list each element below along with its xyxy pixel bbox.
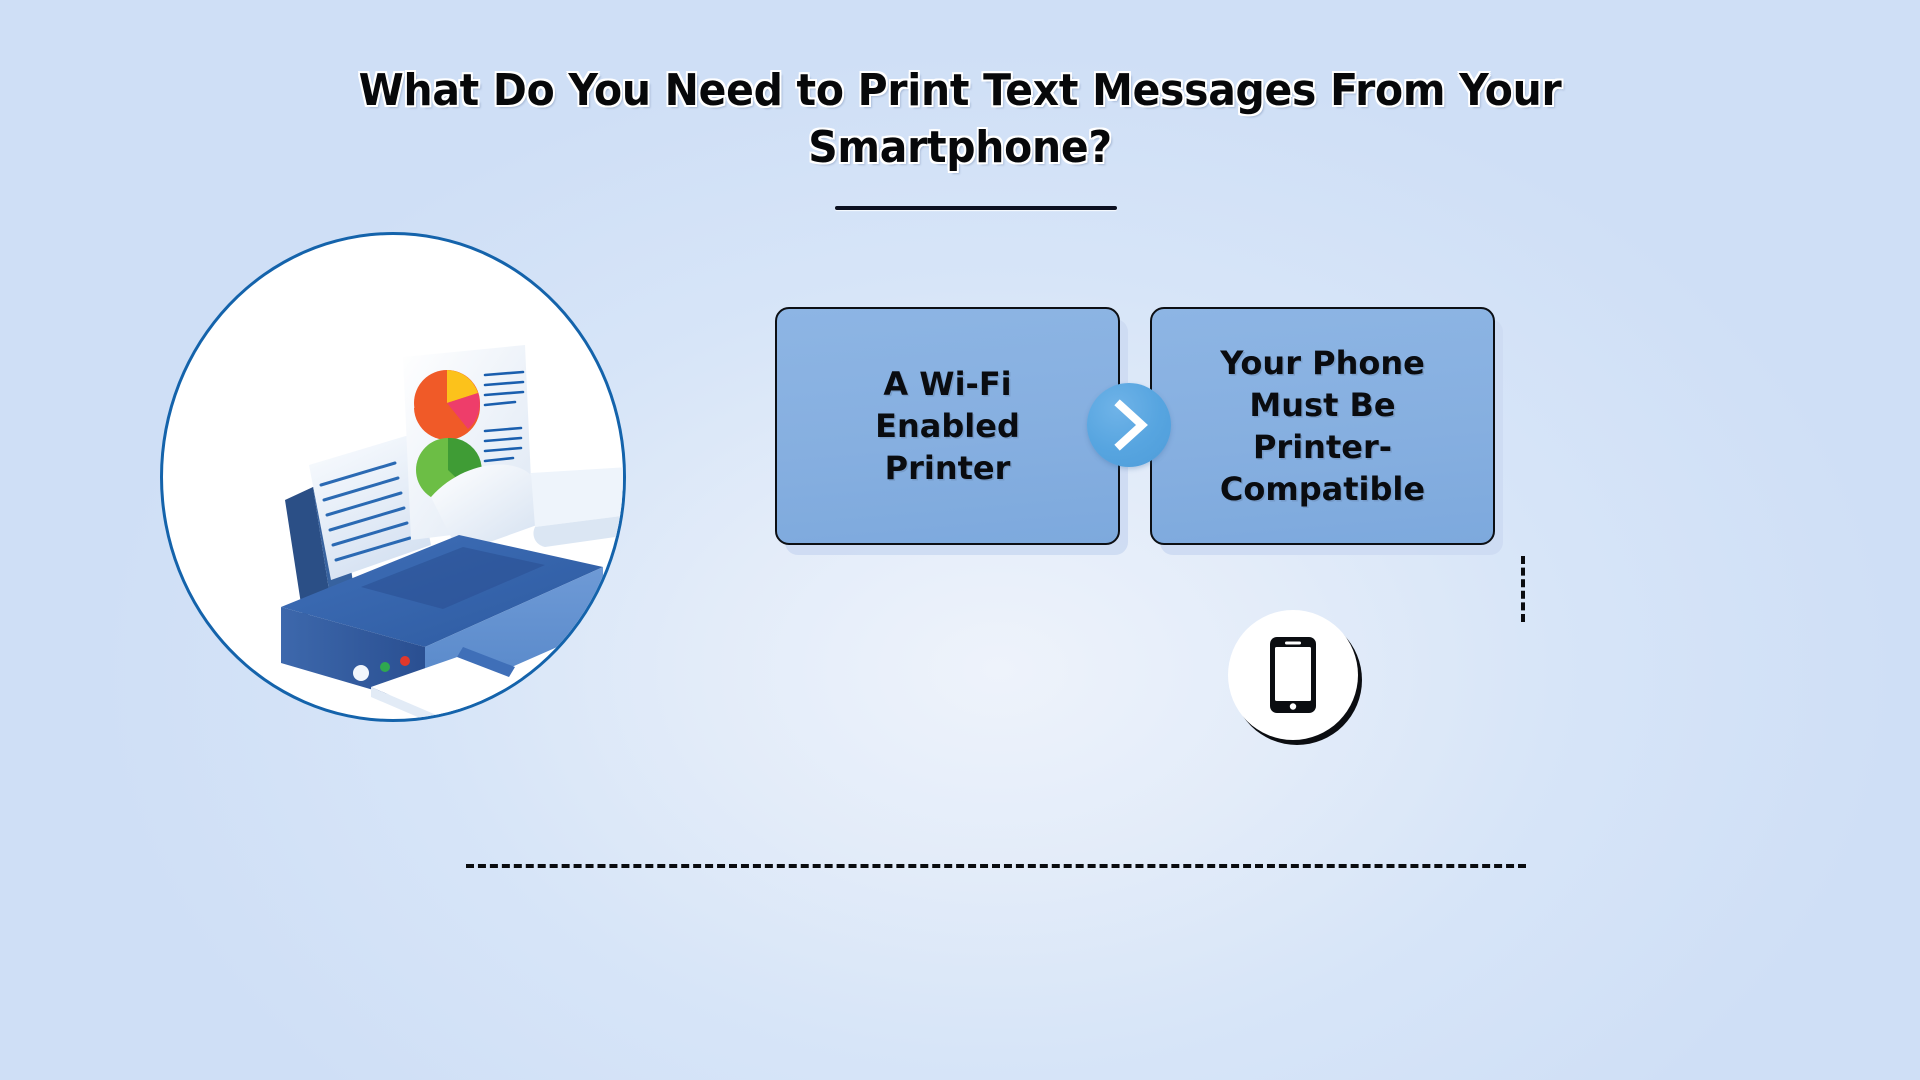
flow-step-printer-compatible-phone-label: Your Phone Must Be Printer- Compatible <box>1206 342 1439 511</box>
chevron-right-icon <box>1087 383 1171 467</box>
page-title-block: What Do You Need to Print Text Messages … <box>0 62 1920 176</box>
connector-vertical-dashed <box>1521 556 1525 622</box>
smartphone-icon <box>1268 635 1318 715</box>
connector-horizontal-dashed <box>466 864 1526 868</box>
flow-step-wifi-printer-label: A Wi-Fi Enabled Printer <box>861 363 1034 490</box>
flow-step-wifi-printer[interactable]: A Wi-Fi Enabled Printer <box>775 307 1120 545</box>
infographic-canvas: What Do You Need to Print Text Messages … <box>0 0 1920 1080</box>
flow-step-printer-compatible-phone[interactable]: Your Phone Must Be Printer- Compatible <box>1150 307 1495 545</box>
wifi-printer-illustration <box>163 235 626 722</box>
printer-illustration-circle <box>160 232 626 722</box>
title-divider <box>835 206 1117 210</box>
smartphone-node <box>1228 610 1358 740</box>
page-title: What Do You Need to Print Text Messages … <box>337 62 1583 176</box>
